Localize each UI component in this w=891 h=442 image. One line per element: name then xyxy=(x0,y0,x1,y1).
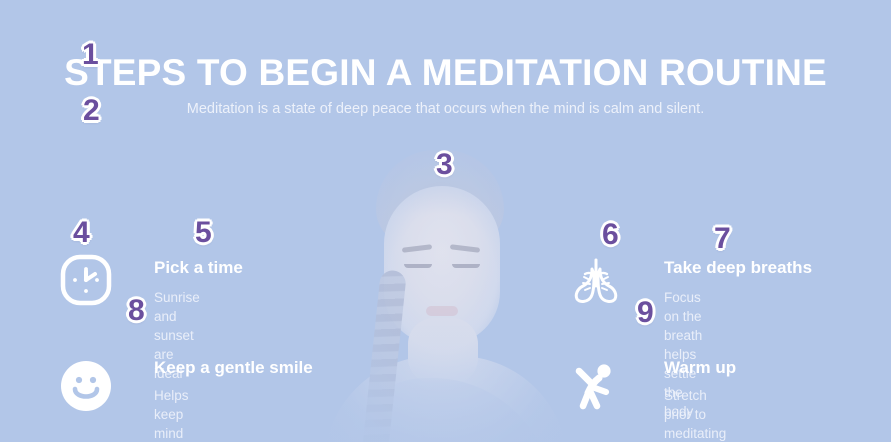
feature-title: Warm up xyxy=(664,358,736,378)
feature-title: Pick a time xyxy=(154,258,243,278)
annotation-marker-7: 7 xyxy=(714,224,731,254)
annotation-marker-3: 3 xyxy=(436,150,453,180)
annotation-marker-6: 6 xyxy=(602,220,619,250)
annotation-marker-4: 4 xyxy=(73,218,90,248)
annotation-marker-8: 8 xyxy=(128,296,145,326)
page-subtitle: Meditation is a state of deep peace that… xyxy=(0,101,891,117)
feature-description: Helps keep mind relaxed and peaceful xyxy=(154,386,205,442)
annotation-marker-2: 2 xyxy=(83,96,100,126)
infographic-canvas: STEPS TO BEGIN A MEDITATION ROUTINE Medi… xyxy=(0,0,891,442)
clock-icon xyxy=(58,252,114,308)
feature-title: Take deep breaths xyxy=(664,258,812,278)
hero-image xyxy=(318,150,568,442)
feature-title: Keep a gentle smile xyxy=(154,358,313,378)
annotation-marker-1: 1 xyxy=(82,40,99,70)
lungs-icon xyxy=(568,252,624,308)
hero-color-wash xyxy=(318,150,568,442)
annotation-marker-5: 5 xyxy=(195,218,212,248)
annotation-marker-9: 9 xyxy=(637,298,654,328)
page-title: STEPS TO BEGIN A MEDITATION ROUTINE xyxy=(0,52,891,94)
stretching-person-icon xyxy=(568,358,624,414)
feature-description: Stretch prior to meditating xyxy=(664,386,726,442)
smiley-face-icon xyxy=(58,358,114,414)
